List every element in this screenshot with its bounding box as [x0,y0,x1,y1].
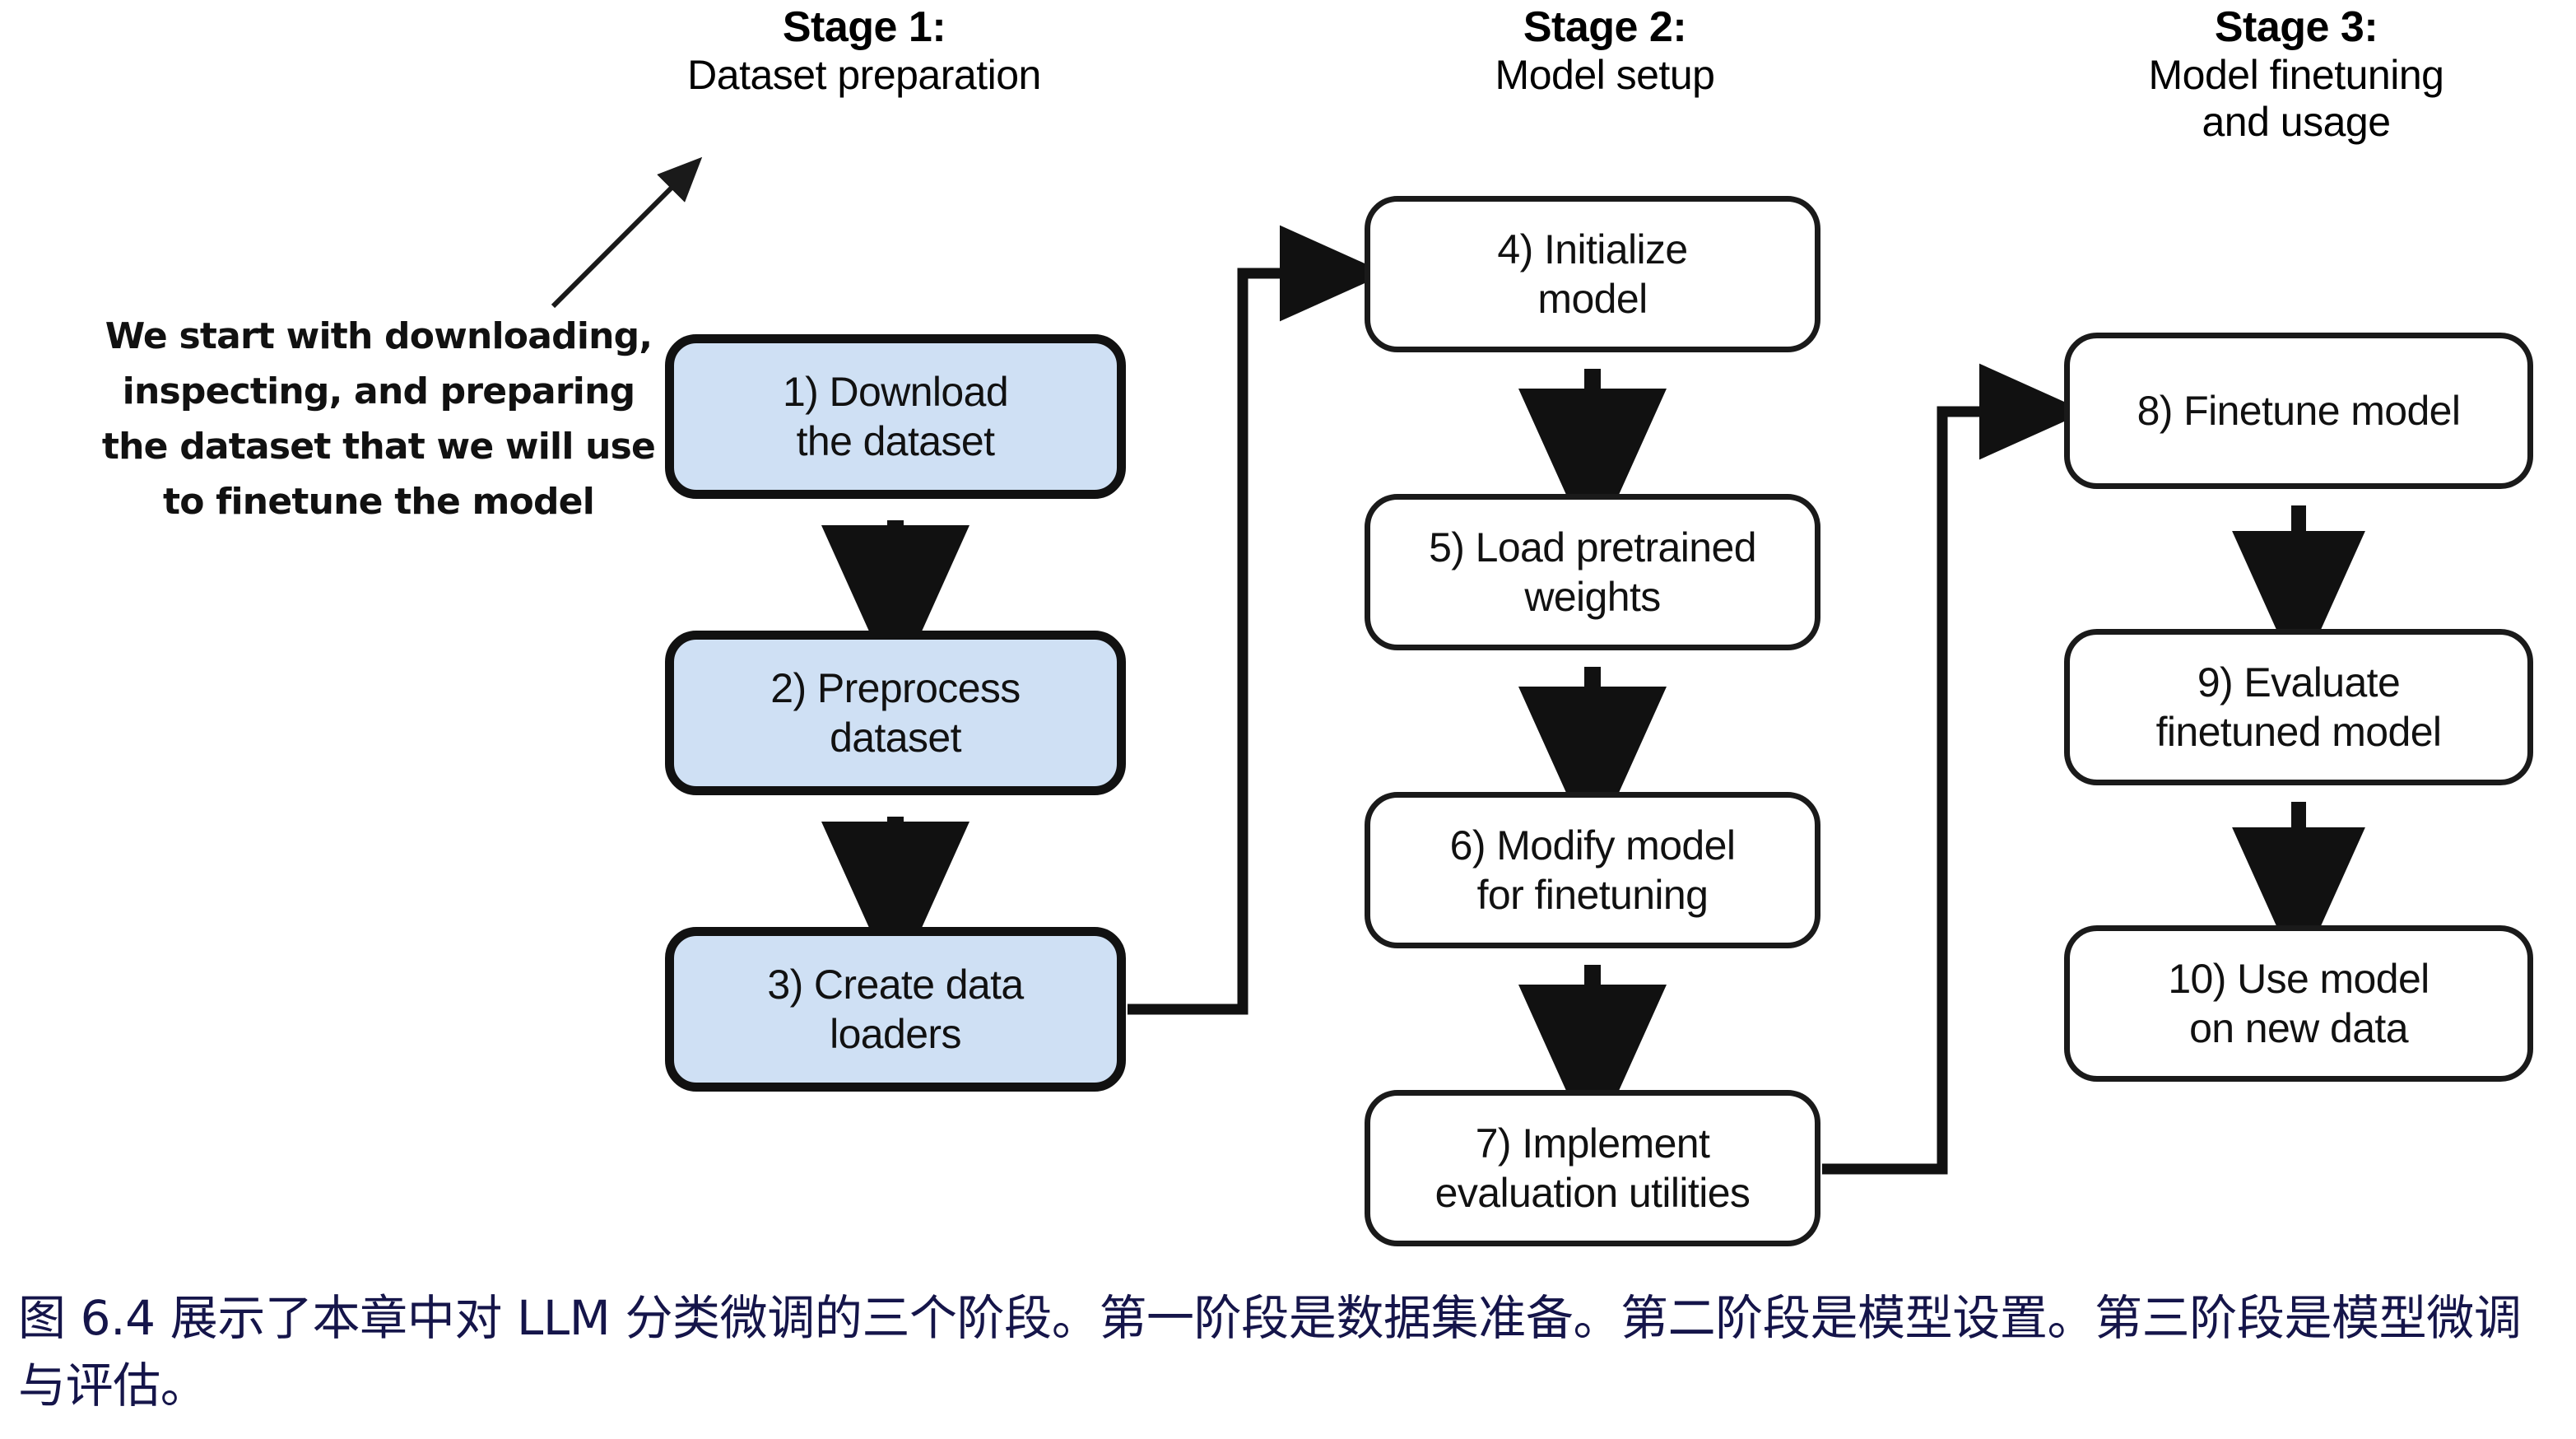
annotation-note: We start with downloading, inspecting, a… [91,310,667,530]
flow-node-finetune-model[interactable]: 8) Finetune model [2064,333,2533,489]
flow-node-initialize-model[interactable]: 4) Initializemodel [1365,196,1820,352]
flow-node-evaluate-finetuned-model[interactable]: 9) Evaluatefinetuned model [2064,629,2533,785]
stage-3-subtitle: Model finetuningand usage [2025,52,2568,146]
flow-node-download-dataset[interactable]: 1) Downloadthe dataset [665,334,1126,499]
flow-node-use-model-on-new-data[interactable]: 10) Use modelon new data [2064,925,2533,1082]
stage-3-title: Stage 3: [2025,3,2568,52]
stage-2-subtitle: Model setup [1325,52,1885,99]
figure-caption: 图 6.4 展示了本章中对 LLM 分类微调的三个阶段。第一阶段是数据集准备。第… [18,1284,2561,1420]
annotation-pointer-arrow [553,175,685,306]
stage-1-subtitle: Dataset preparation [593,52,1136,99]
flow-node-preprocess-dataset[interactable]: 2) Preprocessdataset [665,631,1126,795]
flow-node-modify-model[interactable]: 6) Modify modelfor finetuning [1365,792,1820,948]
stage-2-title: Stage 2: [1325,3,1885,52]
stage-1-title: Stage 1: [593,3,1136,52]
stage-1-header: Stage 1: Dataset preparation [593,3,1136,99]
flow-node-create-data-loaders[interactable]: 3) Create dataloaders [665,927,1126,1092]
flow-node-implement-evaluation-utilities[interactable]: 7) Implementevaluation utilities [1365,1090,1820,1246]
connector-stage1-to-stage2 [1128,273,1327,1009]
stage-3-header: Stage 3: Model finetuningand usage [2025,3,2568,146]
stage-2-header: Stage 2: Model setup [1325,3,1885,99]
flow-node-load-pretrained-weights[interactable]: 5) Load pretrainedweights [1365,494,1820,650]
connector-stage2-to-stage3 [1822,412,2026,1169]
